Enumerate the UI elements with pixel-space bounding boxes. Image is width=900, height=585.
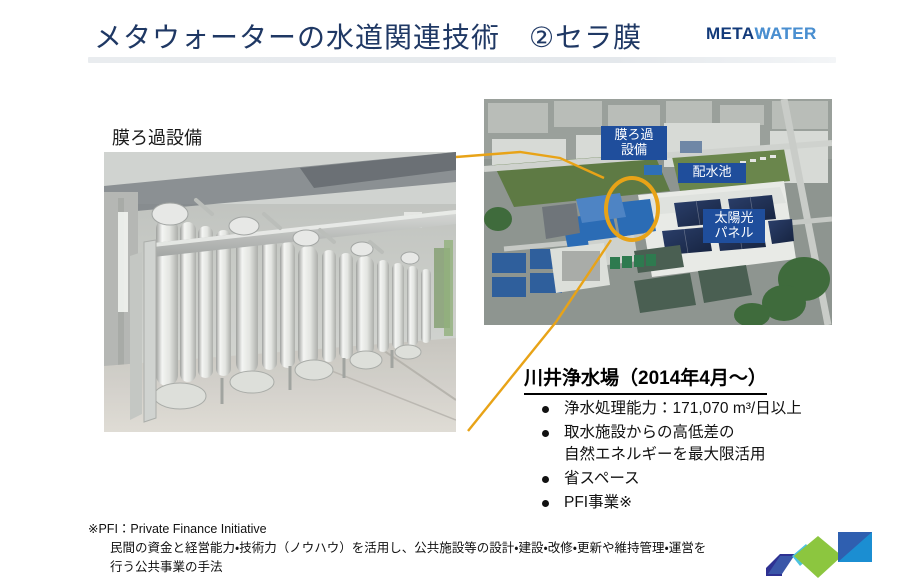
membrane-photo-graphic bbox=[104, 152, 456, 432]
footnote-body: 民間の資金と経営能力・技術力（ノウハウ）を活用し、公共施設等の設計・建設・改修・… bbox=[88, 539, 788, 577]
footnote-title: ※PFI：Private Finance Initiative bbox=[88, 520, 788, 539]
list-item: 取水施設からの高低差の 自然エネルギーを最大限活用 bbox=[536, 422, 886, 466]
facility-heading: 川井浄水場（2014年4月〜） bbox=[524, 363, 767, 395]
list-item: PFI事業※ bbox=[536, 492, 886, 514]
logo-text-water: WATER bbox=[755, 25, 817, 42]
facility-bullet-list: 浄水処理能力：171,070 m³/日以上 取水施設からの高低差の 自然エネルギ… bbox=[536, 398, 886, 516]
map-label-membrane-facility: 膜ろ過 設備 bbox=[601, 126, 667, 160]
list-item: 省スペース bbox=[536, 468, 886, 490]
membrane-filtration-equipment-photo bbox=[104, 152, 456, 432]
map-label-distribution-reservoir: 配水池 bbox=[678, 163, 746, 183]
footnote-block: ※PFI：Private Finance Initiative 民間の資金と経営… bbox=[88, 520, 788, 576]
page-title: メタウォーターの水道関連技術 ②セラ膜 bbox=[94, 16, 642, 56]
membrane-facility-highlight-circle bbox=[604, 176, 660, 242]
list-item: 浄水処理能力：171,070 m³/日以上 bbox=[536, 398, 886, 420]
slide-canvas: メタウォーターの水道関連技術 ②セラ膜 METAWATER 膜ろ過設備 bbox=[0, 0, 900, 585]
logo-text-meta: META bbox=[706, 25, 755, 42]
left-photo-caption: 膜ろ過設備 bbox=[112, 124, 202, 150]
metawater-diamond-mark bbox=[762, 530, 878, 580]
metawater-logo: METAWATER bbox=[706, 22, 828, 44]
header-divider bbox=[88, 57, 836, 63]
map-label-solar-panels: 太陽光 パネル bbox=[703, 209, 765, 243]
